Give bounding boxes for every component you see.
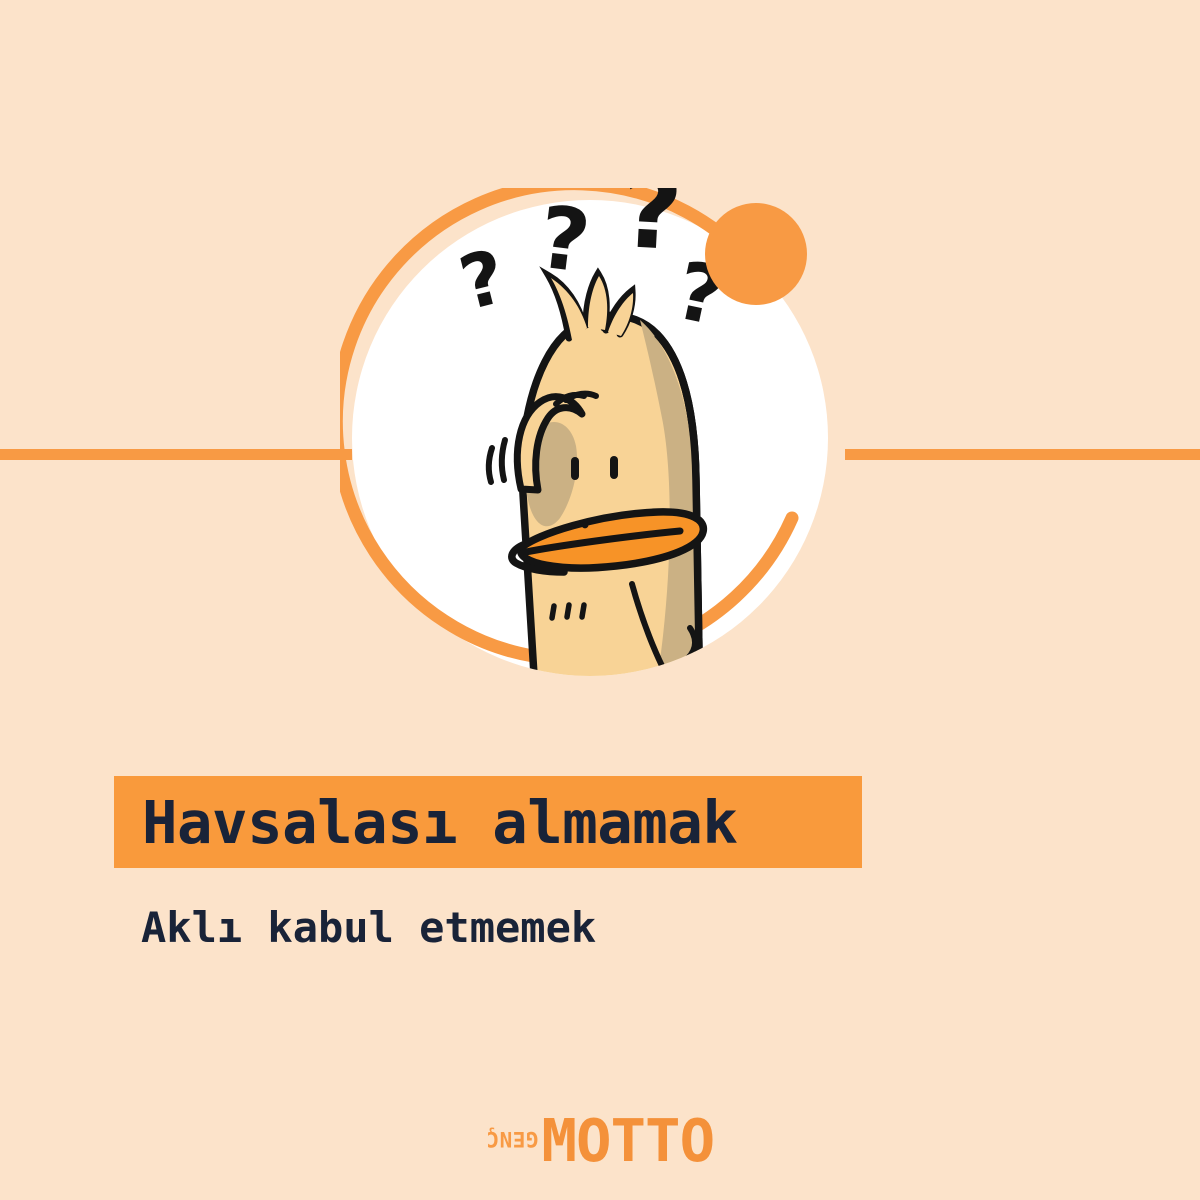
horizontal-rule-left <box>0 449 352 460</box>
duck-nostril-right <box>582 522 589 529</box>
brand-logo-prefix: GENÇ <box>486 1128 539 1149</box>
question-mark-3: ? <box>619 188 686 274</box>
page-subtitle: Aklı kabul etmemek <box>141 903 596 953</box>
page-title: Havsalası almamak <box>142 793 737 852</box>
horizontal-rule-right <box>845 449 1200 460</box>
brand-logo-wordmark: MOTTO <box>541 1111 714 1170</box>
title-highlight-bar: Havsalası almamak <box>114 776 862 868</box>
duck-nostril-left <box>566 524 573 531</box>
confused-duck-illustration: ? ? ? ? <box>340 188 844 692</box>
orange-accent-dot <box>705 203 807 305</box>
poster-canvas: ? ? ? ? Havsalası almamak Aklı kabul etm… <box>0 0 1200 1200</box>
brand-logo: GENÇ MOTTO <box>0 1108 1200 1172</box>
